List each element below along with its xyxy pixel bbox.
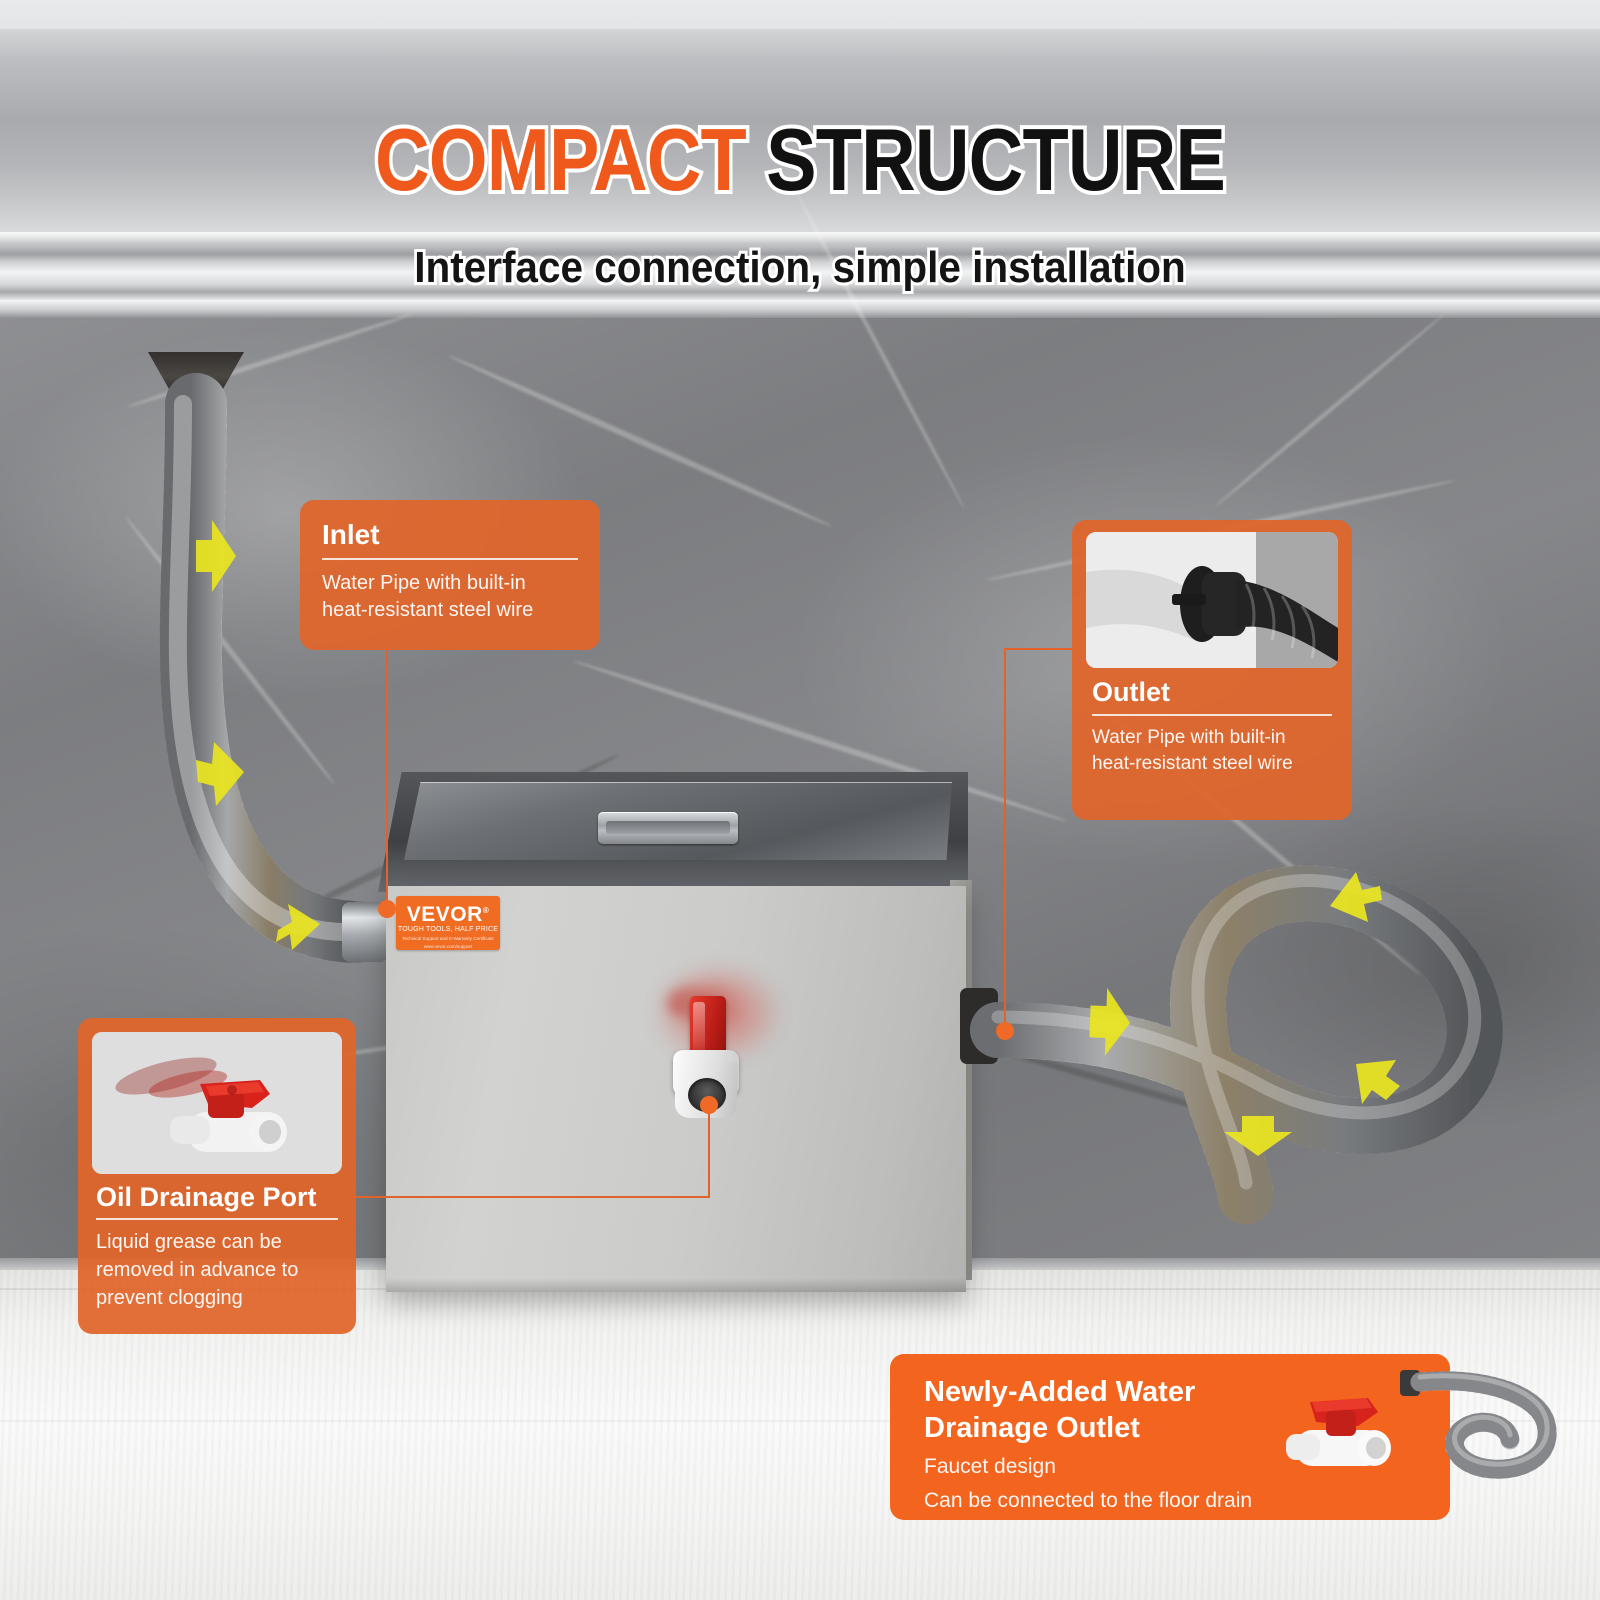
- leader-line-inlet: [386, 646, 388, 908]
- leader-line-outlet-horizontal: [1004, 648, 1074, 650]
- leader-dot-oil: [700, 1096, 718, 1114]
- water-outlet-valve-graphic: [1282, 1368, 1412, 1498]
- leader-dot-outlet: [996, 1022, 1014, 1040]
- callout-oil-body-line1: Liquid grease can be: [92, 1228, 342, 1256]
- page-title: COMPACT STRUCTURE: [112, 112, 1488, 208]
- page-title-part1: COMPACT: [375, 110, 746, 209]
- product-infographic: VEVOR® TOUGH TOOLS, HALF PRICE Technical…: [0, 0, 1600, 1600]
- leader-dot-inlet: [378, 900, 396, 918]
- page-subtitle: Interface connection, simple installatio…: [64, 240, 1536, 296]
- callout-outlet-body-line2: heat-resistant steel wire: [1086, 751, 1338, 777]
- callout-oil-body-line3: prevent clogging: [92, 1284, 342, 1312]
- callout-outlet-divider: [1092, 714, 1332, 716]
- leader-line-oil-vertical: [708, 1110, 710, 1198]
- callout-oil-body-line2: removed in advance to: [92, 1256, 342, 1284]
- callout-oil-inset-photo: [92, 1032, 342, 1174]
- callout-oil-divider: [96, 1218, 338, 1220]
- callout-oil-title: Oil Drainage Port: [92, 1182, 342, 1212]
- callout-outlet-body-line1: Water Pipe with built-in: [1086, 725, 1338, 751]
- callout-outlet-inset-photo: [1086, 532, 1338, 668]
- callout-inlet-divider: [322, 558, 578, 560]
- callout-inlet[interactable]: Inlet Water Pipe with built-in heat-resi…: [300, 500, 600, 650]
- water-outlet-hose-graphic: [1398, 1362, 1578, 1502]
- callout-outlet-title: Outlet: [1086, 678, 1338, 707]
- page-title-part2: STRUCTURE: [766, 110, 1225, 209]
- leader-line-outlet-vertical: [1004, 648, 1006, 1030]
- callout-inlet-body-line1: Water Pipe with built-in: [322, 570, 578, 597]
- callout-inlet-title: Inlet: [322, 520, 578, 550]
- callout-inlet-body-line2: heat-resistant steel wire: [322, 597, 578, 624]
- leader-line-oil-horizontal: [354, 1196, 710, 1198]
